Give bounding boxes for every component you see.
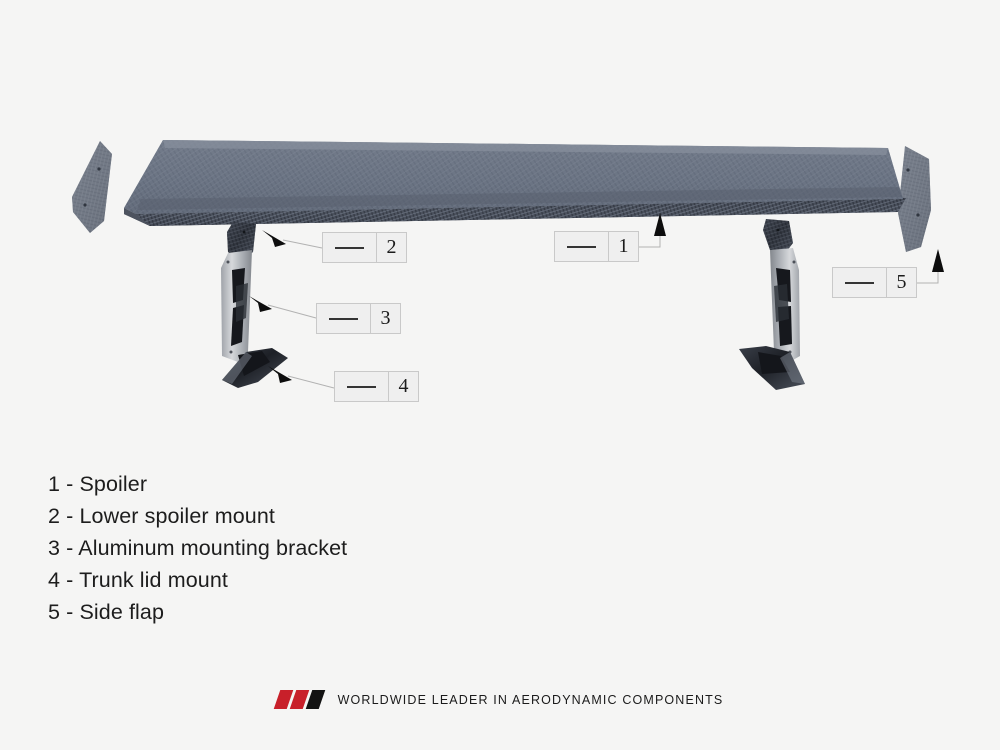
leader-line-4 <box>288 376 334 388</box>
callout-box-4[interactable]: 4 <box>334 371 419 402</box>
arrowhead-2 <box>262 230 286 247</box>
callout-dash-2 <box>323 233 376 262</box>
aluminum-mounting-bracket-left <box>221 250 252 362</box>
side-flap-left <box>72 141 112 233</box>
callout-box-3[interactable]: 3 <box>316 303 401 334</box>
callout-dash-1 <box>555 232 608 261</box>
aluminum-mounting-bracket-right <box>770 248 800 364</box>
callout-box-5[interactable]: 5 <box>832 267 917 298</box>
footer-tagline: WORLDWIDE LEADER IN AERODYNAMIC COMPONEN… <box>338 693 724 707</box>
callout-number-1: 1 <box>608 232 638 261</box>
legend-item-3: 3 - Aluminum mounting bracket <box>48 532 568 564</box>
arrowhead-3 <box>249 296 272 312</box>
callout-dash-4 <box>335 372 388 401</box>
legend-item-2: 2 - Lower spoiler mount <box>48 500 568 532</box>
footer: WORLDWIDE LEADER IN AERODYNAMIC COMPONEN… <box>0 690 1000 709</box>
arrowhead-4 <box>268 366 292 383</box>
callout-dash-5 <box>833 268 886 297</box>
strut-assembly-left <box>221 222 288 388</box>
spoiler-wing <box>124 140 906 226</box>
parts-legend: 1 - Spoiler 2 - Lower spoiler mount 3 - … <box>48 468 568 628</box>
legend-item-1: 1 - Spoiler <box>48 468 568 500</box>
callout-box-2[interactable]: 2 <box>322 232 407 263</box>
callout-box-1[interactable]: 1 <box>554 231 639 262</box>
product-illustration <box>0 0 1000 750</box>
callout-dash-3 <box>317 304 370 333</box>
leader-line-2 <box>283 240 322 248</box>
callout-number-3: 3 <box>370 304 400 333</box>
leader-line-3 <box>268 305 316 318</box>
strut-assembly-right <box>739 219 805 390</box>
callout-number-4: 4 <box>388 372 418 401</box>
legend-item-5: 5 - Side flap <box>48 596 568 628</box>
brand-logo-icon <box>277 690 325 709</box>
diagram-canvas: 1 2 3 4 5 1 - Spoiler 2 - Lower spoiler … <box>0 0 1000 750</box>
arrowhead-5 <box>932 249 944 272</box>
callout-number-5: 5 <box>886 268 916 297</box>
callout-number-2: 2 <box>376 233 406 262</box>
legend-item-4: 4 - Trunk lid mount <box>48 564 568 596</box>
